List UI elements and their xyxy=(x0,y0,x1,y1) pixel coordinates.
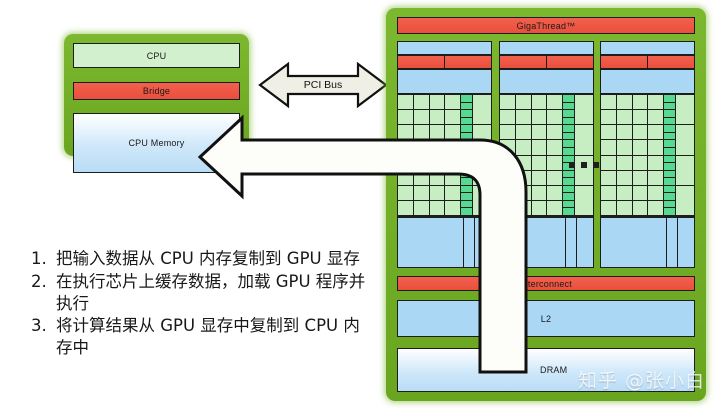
sm-bottom-band xyxy=(600,217,695,268)
sm-ldst-column xyxy=(676,95,694,216)
sm-core-cell xyxy=(648,125,663,140)
sm-core-cell xyxy=(601,95,616,110)
sm-core-cell xyxy=(633,201,648,216)
sm-core-cell xyxy=(648,140,663,155)
sm-core-cell xyxy=(648,110,663,125)
sm-ldst-cell xyxy=(676,95,694,125)
sm-core-cell xyxy=(633,95,648,110)
watermark: 知乎 @张小白 xyxy=(578,366,705,393)
sm-sfu-cell xyxy=(664,110,675,118)
sm-core-cell xyxy=(617,125,632,140)
sm-register-file xyxy=(499,69,594,94)
sm-sfu-column xyxy=(563,95,575,216)
sm-ldst-cell xyxy=(676,156,694,186)
sm-core-cell xyxy=(547,171,562,186)
sm-top-band xyxy=(397,41,492,55)
sm-core-cell xyxy=(601,110,616,125)
sm-sfu-cell xyxy=(664,118,675,126)
sm-core-cell xyxy=(547,156,562,171)
sm-core-cell xyxy=(633,156,648,171)
sm-core-cell xyxy=(547,125,562,140)
sm-scheduler-band xyxy=(600,55,695,69)
sm-register-file xyxy=(397,69,492,94)
sm-scheduler-half xyxy=(499,55,547,69)
sm-sfu-column xyxy=(664,95,676,216)
sm-ldst-cell xyxy=(676,125,694,155)
steps-list: 把输入数据从 CPU 内存复制到 GPU 显存 在执行芯片上缓存数据，加载 GP… xyxy=(22,248,367,360)
sm-core-cell xyxy=(633,140,648,155)
sm-core-cell xyxy=(648,201,663,216)
sm-sfu-cell xyxy=(563,201,574,209)
sm-sfu-cell xyxy=(664,163,675,171)
sm-core-cell xyxy=(601,125,616,140)
sm-core-cell xyxy=(601,186,616,201)
sm-core-cell xyxy=(617,156,632,171)
sm-core-cell xyxy=(648,95,663,110)
sm-core-cell xyxy=(601,171,616,186)
sm-sfu-cell xyxy=(563,95,574,103)
sm-bottom-thin2 xyxy=(576,217,594,268)
sm-core-column xyxy=(617,95,633,216)
sm-bottom-thin2 xyxy=(677,217,695,268)
sm-sfu-cell xyxy=(664,208,675,216)
sm-scheduler-half xyxy=(600,55,648,69)
sm-sfu-cell xyxy=(664,125,675,133)
sm-core-cell xyxy=(633,186,648,201)
sm-core-cell xyxy=(648,171,663,186)
sm-core-cell xyxy=(547,140,562,155)
sm-sfu-cell xyxy=(664,193,675,201)
sm-scheduler-band xyxy=(499,55,594,69)
sm-sfu-cell xyxy=(664,186,675,194)
sm-core-column xyxy=(648,95,664,216)
sm-core-cell xyxy=(547,110,562,125)
sm-sfu-cell xyxy=(563,178,574,186)
bridge-block: Bridge xyxy=(73,82,240,100)
streaming-multiprocessor xyxy=(600,41,695,268)
sm-ldst-cell xyxy=(575,95,593,125)
sm-core-grid xyxy=(600,94,695,217)
sm-core-cell xyxy=(617,110,632,125)
sm-sfu-cell xyxy=(563,140,574,148)
ellipsis-icon xyxy=(569,160,599,170)
sm-ldst-cell xyxy=(676,186,694,216)
sm-scheduler-half xyxy=(647,55,695,69)
sm-ldst-cell xyxy=(575,186,593,216)
sm-sfu-cell xyxy=(563,171,574,179)
sm-core-cell xyxy=(601,156,616,171)
sm-core-column xyxy=(633,95,649,216)
sm-sfu-cell xyxy=(664,156,675,164)
sm-sfu-cell xyxy=(563,125,574,133)
sm-core-cell xyxy=(601,140,616,155)
diagram-canvas: CPU Bridge CPU Memory PCI Bus GigaThread… xyxy=(0,0,720,409)
sm-top-band xyxy=(600,41,695,55)
sm-core-cell xyxy=(617,201,632,216)
sm-sfu-cell xyxy=(664,103,675,111)
sm-scheduler-band xyxy=(397,55,492,69)
sm-core-cell xyxy=(633,125,648,140)
sm-core-cell xyxy=(617,171,632,186)
sm-sfu-cell xyxy=(563,193,574,201)
sm-register-file xyxy=(600,69,695,94)
sm-core-cell xyxy=(617,95,632,110)
sm-core-column xyxy=(601,95,617,216)
sm-core-cell xyxy=(648,186,663,201)
sm-core-cell xyxy=(648,156,663,171)
sm-core-cell xyxy=(601,201,616,216)
sm-scheduler-half xyxy=(397,55,445,69)
sm-sfu-cell xyxy=(664,201,675,209)
sm-shared-memory xyxy=(600,217,667,268)
sm-core-cell xyxy=(547,95,562,110)
gigathread-block: GigaThread™ xyxy=(397,17,695,34)
list-item: 将计算结果从 GPU 显存中复制到 CPU 内存中 xyxy=(52,315,367,359)
sm-sfu-cell xyxy=(563,148,574,156)
sm-core-cell xyxy=(633,110,648,125)
sm-sfu-cell xyxy=(664,148,675,156)
sm-core-cell xyxy=(617,186,632,201)
list-item: 在执行芯片上缓存数据，加载 GPU 程序并执行 xyxy=(52,271,367,315)
sm-scheduler-half xyxy=(546,55,594,69)
sm-sfu-cell xyxy=(664,171,675,179)
cpu-block: CPU xyxy=(73,43,240,68)
sm-sfu-cell xyxy=(563,110,574,118)
sm-sfu-cell xyxy=(664,140,675,148)
sm-core-cell xyxy=(547,201,562,216)
sm-core-cell xyxy=(633,171,648,186)
sm-sfu-cell xyxy=(563,118,574,126)
sm-core-cell xyxy=(547,186,562,201)
sm-core-cell xyxy=(617,140,632,155)
sm-scheduler-half xyxy=(444,55,492,69)
sm-sfu-cell xyxy=(664,95,675,103)
sm-ldst-cell xyxy=(575,125,593,155)
sm-sfu-cell xyxy=(563,103,574,111)
sm-core-column xyxy=(547,95,563,216)
sm-top-band xyxy=(499,41,594,55)
sm-sfu-cell xyxy=(563,208,574,216)
sm-ldst-column xyxy=(575,95,593,216)
sm-sfu-cell xyxy=(664,133,675,141)
sm-sfu-cell xyxy=(563,186,574,194)
sm-sfu-cell xyxy=(563,133,574,141)
sm-sfu-cell xyxy=(664,178,675,186)
list-item: 把输入数据从 CPU 内存复制到 GPU 显存 xyxy=(52,248,367,270)
